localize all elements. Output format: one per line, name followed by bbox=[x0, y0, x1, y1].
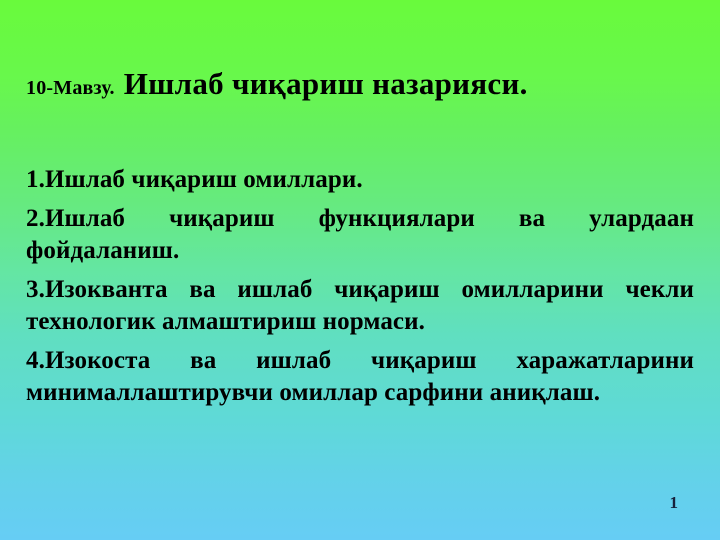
list-item: 4.Изокоста ва ишлаб чиқариш харажатларин… bbox=[26, 345, 694, 410]
title-main-text: Ишлаб чиқариш назарияси. bbox=[124, 66, 528, 101]
title-topic-number: 10-Мавзу. bbox=[26, 77, 115, 99]
list-item: 2.Ишлаб чиқариш функциялари ва улардаан … bbox=[26, 203, 694, 268]
slide-body-list: 1.Ишлаб чиқариш омиллари. 2.Ишлаб чиқари… bbox=[26, 164, 694, 416]
list-item: 1.Ишлаб чиқариш омиллари. bbox=[26, 164, 694, 197]
slide-title: 10-Мавзу.Ишлаб чиқариш назарияси. bbox=[26, 68, 694, 101]
list-item: 3.Изокванта ва ишлаб чиқариш омилларини … bbox=[26, 274, 694, 339]
page-number: 1 bbox=[670, 493, 679, 513]
presentation-slide: 10-Мавзу.Ишлаб чиқариш назарияси. 1.Ишла… bbox=[0, 0, 720, 540]
